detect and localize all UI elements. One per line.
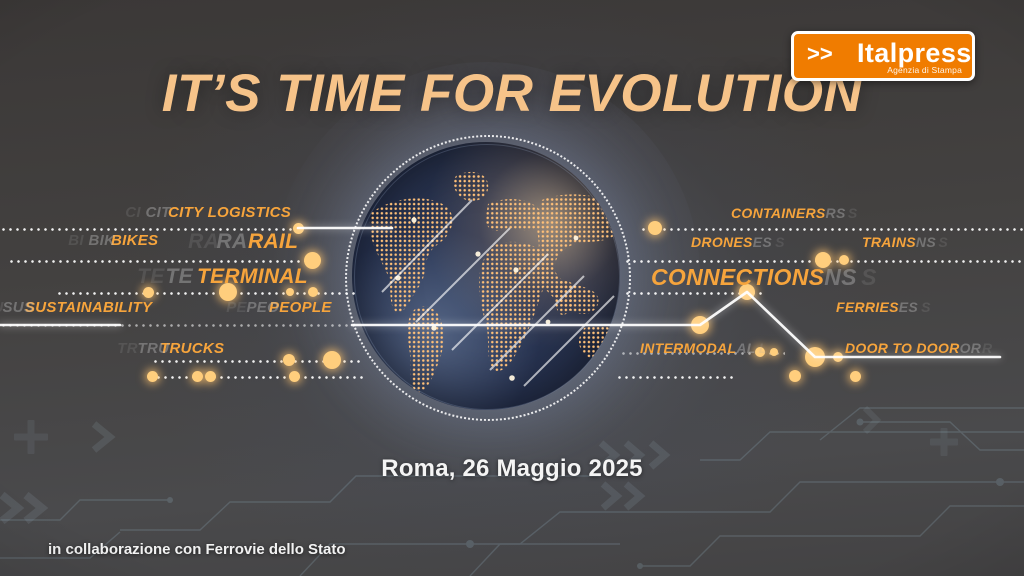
network-label: ALLINTERMODAL [640, 340, 736, 356]
label-text: DRONES [691, 234, 753, 250]
network-rail [0, 324, 356, 327]
chevron-right-icon [860, 405, 886, 435]
logo-arrows-icon: >> [807, 43, 833, 65]
globe-inner-ring [354, 144, 620, 410]
network-rail [640, 228, 1024, 231]
label-ghost: RA [217, 230, 248, 254]
label-ghost: RS [826, 205, 846, 221]
label-ghost: TR [117, 340, 138, 357]
network-label: RARARAIL [248, 230, 298, 254]
network-node [308, 287, 318, 297]
label-text: TERMINAL [197, 265, 308, 288]
label-text: CONNECTIONS [651, 264, 824, 290]
network-label: PEOPEPEOPLE [269, 299, 332, 316]
network-label: NSSCONNECTIONS [651, 264, 824, 291]
network-label: ESSFERRIES [836, 299, 899, 315]
label-text: FERRIES [836, 299, 899, 315]
label-ghost: BIK [89, 232, 116, 249]
label-ghost: ES [899, 299, 918, 315]
label-ghost: S [861, 264, 877, 291]
label-ghost: SUS [3, 299, 35, 316]
logo-tagline: Agenzia di Stampa [887, 65, 962, 75]
label-ghost: CI [125, 204, 141, 221]
label-ghost: PEO [247, 299, 280, 316]
label-ghost: S [848, 205, 858, 221]
network-node [283, 354, 295, 366]
network-node [850, 371, 861, 382]
label-ghost: R [982, 340, 992, 356]
plus-icon [14, 420, 48, 454]
collaboration-note: in collaborazione con Ferrovie dello Sta… [48, 541, 346, 558]
label-text: SUSTAINABILITY [25, 299, 152, 316]
label-ghost: TRU [138, 340, 170, 357]
label-text: BIKES [111, 232, 158, 249]
label-ghost: AL [736, 340, 755, 356]
network-rail [8, 260, 314, 263]
label-ghost: CIT [146, 204, 171, 221]
label-text: TRUCKS [160, 340, 224, 357]
network-node [648, 221, 662, 235]
label-text: DOOR TO DOOR [845, 340, 960, 356]
network-node [289, 371, 300, 382]
chevron-right-icon [88, 420, 122, 454]
label-ghost: ES [753, 234, 772, 250]
label-ghost: NS [916, 234, 936, 250]
label-ghost: TE [166, 265, 193, 289]
italpress-logo[interactable]: >> Italpress Agenzia di Stampa [791, 31, 975, 81]
label-text: CONTAINERS [731, 205, 826, 221]
network-node [770, 348, 778, 356]
network-node [286, 288, 294, 296]
network-rail [148, 376, 364, 379]
network-node [833, 352, 843, 362]
label-text: TRAINS [862, 234, 916, 250]
label-ghost: S [921, 299, 931, 315]
network-label: TETETERMINAL [197, 265, 308, 289]
label-ghost: OR [960, 340, 982, 356]
chevron-double-right-icon [0, 490, 70, 526]
network-node [192, 371, 203, 382]
network-node [147, 371, 158, 382]
label-ghost: PE [226, 299, 247, 316]
label-ghost: L [759, 340, 768, 356]
label-text: CITY LOGISTICS [168, 204, 291, 221]
label-ghost: NS [824, 264, 857, 291]
network-label: NSSTRAINS [862, 234, 916, 250]
network-node [205, 371, 216, 382]
network-label: ESSDRONES [691, 234, 753, 250]
label-ghost: TE [137, 265, 164, 289]
network-label: RSSCONTAINERS [731, 205, 826, 221]
event-date: Roma, 26 Maggio 2025 [0, 455, 1024, 483]
network-node [805, 347, 825, 367]
label-ghost: S [938, 234, 948, 250]
network-label: SUSSUSUSTAINABILITY [25, 299, 152, 316]
network-label: CITCICITY LOGISTICS [168, 204, 291, 221]
label-text: INTERMODAL [640, 340, 736, 356]
globe-graphic [352, 142, 620, 410]
network-label: BIKBIBIKES [111, 232, 158, 249]
network-label: ORRDOOR TO DOOR [845, 340, 960, 356]
network-rail [616, 376, 736, 379]
chevron-double-right-icon [600, 480, 660, 512]
plus-icon [930, 428, 958, 456]
network-node [323, 351, 341, 369]
network-label: TRUTRTRUCKS [160, 340, 224, 357]
label-ghost: BI [68, 232, 84, 249]
label-ghost: RA [188, 230, 219, 254]
presentation-slide: CITCICITY LOGISTICSBIKBIBIKESRARARAILTET… [0, 0, 1024, 576]
network-node [789, 370, 801, 382]
label-ghost: S [775, 234, 785, 250]
label-ghost: SU [0, 299, 4, 316]
network-node [691, 316, 709, 334]
label-text: RAIL [248, 230, 298, 253]
